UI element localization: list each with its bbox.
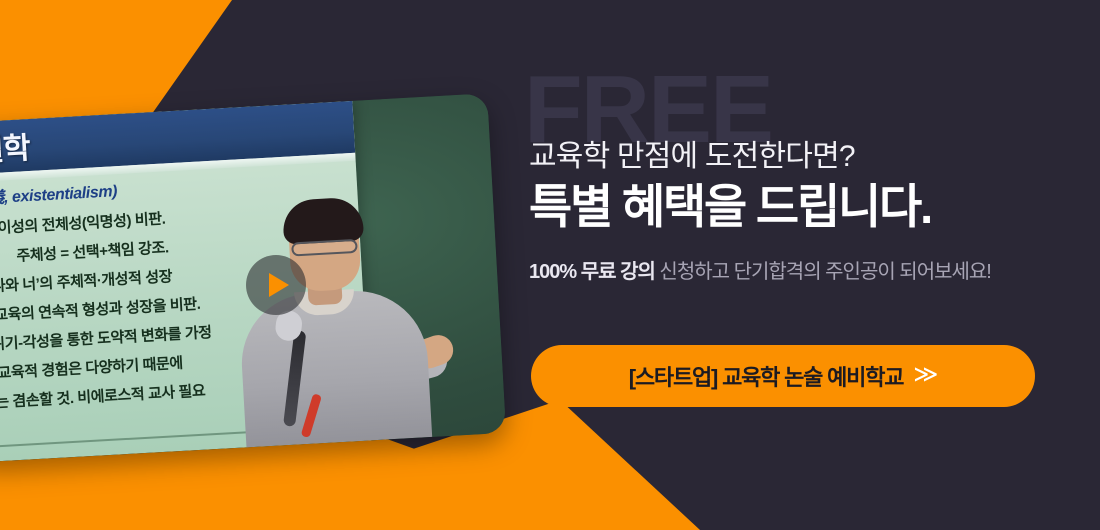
tagline-rest: 신청하고 단기합격의 주인공이 되어보세요! [655, 261, 991, 283]
play-triangle-icon [269, 273, 289, 297]
tagline: 100% 무료 강의 신청하고 단기합격의 주인공이 되어보세요! [529, 255, 1089, 284]
play-button[interactable] [246, 255, 306, 315]
slide-header-text: 육 철학 [0, 123, 31, 172]
headline-subtitle: 교육학 만점에 도전한다면? [529, 140, 1089, 175]
promo-banner: 육 철학 存主義, existentialism) : 근대 이성의 전체성(익… [0, 0, 1100, 530]
double-chevron-right-icon: ≫ [913, 363, 937, 387]
cta-button-label: [스타트업] 교육학 논술 예비학교 [629, 360, 904, 392]
lecturer-figure [221, 187, 445, 448]
copy-block: 교육학 만점에 도전한다면? 특별 혜택을 드립니다. 100% 무료 강의 신… [529, 140, 1089, 284]
headline-title: 특별 혜택을 드립니다. [529, 181, 1089, 234]
lecturer-hair [282, 196, 364, 244]
tagline-strong: 100% 무료 강의 [529, 261, 655, 283]
cta-button[interactable]: [스타트업] 교육학 논술 예비학교 ≫ [531, 345, 1035, 407]
